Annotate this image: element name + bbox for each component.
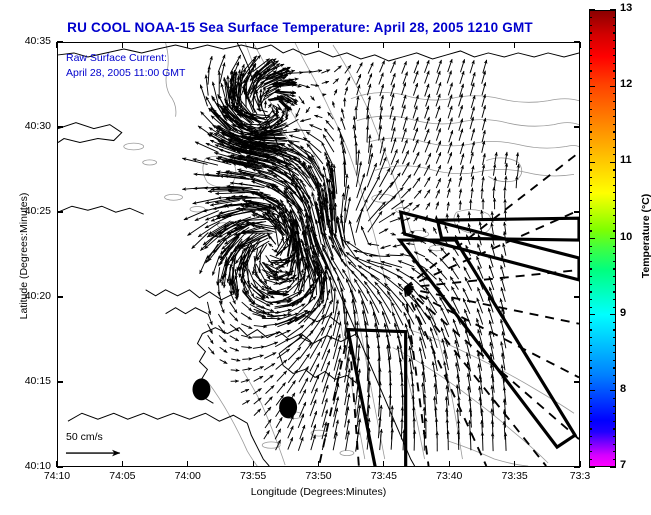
current-vector xyxy=(341,117,345,129)
map-graphics xyxy=(58,43,579,466)
current-vector xyxy=(425,84,429,97)
colorbar-minor-tick xyxy=(589,284,592,285)
x-tick xyxy=(579,42,580,48)
colorbar-minor-tick xyxy=(613,147,616,148)
colorbar-minor-tick xyxy=(589,444,592,445)
figure-canvas: RU COOL NOAA-15 Sea Surface Temperature:… xyxy=(0,0,651,515)
colorbar-minor-tick xyxy=(589,25,592,26)
current-vector xyxy=(367,126,368,142)
current-vector xyxy=(472,176,474,187)
current-vector xyxy=(241,335,252,338)
current-vector xyxy=(334,89,337,95)
current-vector xyxy=(322,385,328,404)
current-vector xyxy=(241,389,249,392)
colorbar-minor-tick xyxy=(589,48,592,49)
colorbar-minor-tick xyxy=(613,25,616,26)
current-vector xyxy=(300,425,305,439)
colorbar-tick xyxy=(589,238,595,239)
current-vector xyxy=(299,342,312,359)
current-vector xyxy=(402,139,407,153)
current-vector xyxy=(436,165,441,176)
colorbar-minor-tick xyxy=(589,352,592,353)
current-vector xyxy=(459,189,461,199)
current-vector xyxy=(264,363,275,370)
current-vector xyxy=(379,229,388,234)
current-vector xyxy=(437,82,441,95)
current-vector xyxy=(298,414,304,428)
current-vector xyxy=(436,71,440,84)
colorbar-minor-tick xyxy=(613,383,616,384)
x-tick xyxy=(122,42,123,48)
map-plot-area[interactable]: Raw Surface Current: April 28, 2005 11:0… xyxy=(57,42,580,467)
colorbar-minor-tick xyxy=(613,93,616,94)
current-vector xyxy=(471,72,475,85)
colorbar-minor-tick xyxy=(589,208,592,209)
current-vector xyxy=(338,127,344,142)
current-vector xyxy=(414,252,425,257)
current-vector xyxy=(401,188,411,198)
x-tick xyxy=(383,461,384,467)
current-vector xyxy=(266,385,275,393)
colorbar-minor-tick xyxy=(589,63,592,64)
current-vector xyxy=(268,104,271,108)
current-vector xyxy=(413,152,419,164)
current-vector xyxy=(406,243,414,244)
current-vector xyxy=(393,245,402,247)
colorbar-minor-tick xyxy=(589,200,592,201)
colorbar-minor-tick xyxy=(589,428,592,429)
current-vector xyxy=(413,83,417,96)
colorbar-tick xyxy=(610,238,616,239)
colorbar-tick xyxy=(589,390,595,391)
current-vector xyxy=(192,233,209,249)
current-vector xyxy=(440,258,449,268)
current-vector xyxy=(321,70,330,73)
colorbar-minor-tick xyxy=(613,253,616,254)
current-vector xyxy=(381,245,391,248)
y-tick xyxy=(57,466,63,467)
current-vector xyxy=(369,135,371,153)
current-vector xyxy=(482,105,485,118)
current-vector xyxy=(188,222,208,236)
colorbar-minor-tick xyxy=(613,215,616,216)
colorbar-minor-tick xyxy=(589,139,592,140)
current-vector xyxy=(241,380,250,383)
colorbar-minor-tick xyxy=(613,230,616,231)
colorbar-minor-tick xyxy=(613,413,616,414)
y-tick xyxy=(57,41,63,42)
colorbar-minor-tick xyxy=(613,70,616,71)
current-vector xyxy=(482,71,486,84)
colorbar-tick-label: 13 xyxy=(620,2,632,14)
current-vector xyxy=(368,73,372,84)
y-tick xyxy=(574,466,580,467)
colorbar-minor-tick xyxy=(589,131,592,132)
current-vector xyxy=(416,315,425,336)
current-vector xyxy=(460,153,463,164)
current-vector xyxy=(230,302,237,313)
current-vector xyxy=(276,107,277,118)
current-vector xyxy=(208,347,214,354)
colorbar-minor-tick xyxy=(613,329,616,330)
current-vector xyxy=(424,60,429,73)
current-vector xyxy=(403,116,407,129)
x-tick xyxy=(383,42,384,48)
colorbar-minor-tick xyxy=(613,375,616,376)
current-vector xyxy=(288,311,311,325)
y-tick xyxy=(574,41,580,42)
current-vector xyxy=(300,72,313,73)
colorbar-minor-tick xyxy=(613,200,616,201)
current-vector xyxy=(482,164,484,175)
colorbar-minor-tick xyxy=(589,307,592,308)
y-tick xyxy=(57,296,63,297)
current-vector xyxy=(368,96,370,108)
current-vector xyxy=(402,162,409,175)
scale-legend-label: 50 cm/s xyxy=(66,431,103,443)
colorbar-minor-tick xyxy=(613,246,616,247)
colorbar-minor-tick xyxy=(589,436,592,437)
current-vector xyxy=(218,55,225,73)
colorbar-minor-tick xyxy=(589,413,592,414)
colorbar-tick-label: 10 xyxy=(620,231,632,243)
current-vector xyxy=(270,279,289,280)
current-vector xyxy=(401,418,402,439)
current-vector xyxy=(391,73,395,85)
current-vector xyxy=(391,233,396,235)
colorbar-title: Temperature (°C) xyxy=(640,156,651,316)
current-vector xyxy=(230,312,238,321)
current-vector xyxy=(460,59,464,72)
colorbar-minor-tick xyxy=(589,17,592,18)
current-vector xyxy=(311,388,318,405)
colorbar-minor-tick xyxy=(589,55,592,56)
radar-station-marker xyxy=(279,396,297,418)
current-vector xyxy=(333,101,335,107)
colorbar-minor-tick xyxy=(589,177,592,178)
y-tick-label: 40:30 xyxy=(5,120,51,132)
current-vector xyxy=(379,157,386,176)
current-vector xyxy=(349,220,355,245)
current-vector xyxy=(346,419,349,439)
current-vector xyxy=(505,163,506,175)
colorbar-minor-tick xyxy=(589,406,592,407)
current-vector xyxy=(203,204,232,212)
current-vector xyxy=(390,394,391,416)
colorbar-tick xyxy=(589,86,595,87)
colorbar-tick-label: 9 xyxy=(620,307,626,319)
colorbar-tick xyxy=(610,162,616,163)
current-vector xyxy=(300,378,308,394)
colorbar-tick-label: 8 xyxy=(620,383,626,395)
current-vector xyxy=(200,85,207,107)
current-vector xyxy=(218,314,224,324)
current-vector xyxy=(436,190,440,199)
current-vector xyxy=(310,352,320,371)
current-vector xyxy=(448,95,452,108)
current-vector xyxy=(426,203,430,210)
current-vector xyxy=(264,407,271,415)
x-tick xyxy=(253,42,254,48)
colorbar-minor-tick xyxy=(589,291,592,292)
current-vector xyxy=(380,405,381,427)
current-vector xyxy=(299,304,321,324)
current-vector xyxy=(252,355,263,358)
current-vector xyxy=(402,150,408,164)
current-vector xyxy=(478,287,484,302)
current-vector xyxy=(334,66,341,72)
current-vector xyxy=(459,94,463,107)
current-vector xyxy=(357,85,360,96)
colorbar-minor-tick xyxy=(613,101,616,102)
current-vector xyxy=(445,225,448,233)
colorbar-minor-tick xyxy=(589,109,592,110)
colorbar-tick xyxy=(589,314,595,315)
colorbar-minor-tick xyxy=(589,169,592,170)
colorbar-minor-tick xyxy=(613,337,616,338)
current-vector xyxy=(368,62,373,73)
current-vector xyxy=(449,130,453,142)
current-vector xyxy=(398,334,403,359)
current-vector xyxy=(414,95,418,108)
y-tick-label: 40:35 xyxy=(5,35,51,47)
current-vector xyxy=(357,74,361,84)
current-vector xyxy=(425,394,426,415)
current-vector xyxy=(268,243,273,247)
current-vector xyxy=(357,63,363,74)
current-vector xyxy=(241,347,252,348)
colorbar-minor-tick xyxy=(589,367,592,368)
x-tick xyxy=(318,42,319,48)
colorbar-minor-tick xyxy=(613,276,616,277)
current-vector xyxy=(471,141,474,153)
x-tick-label: 73:3 xyxy=(555,470,605,482)
current-vector xyxy=(296,108,300,117)
current-vector xyxy=(402,174,411,186)
current-vector xyxy=(276,417,282,428)
current-vector xyxy=(299,330,314,347)
current-vector xyxy=(465,277,472,291)
current-vector xyxy=(342,108,345,118)
current-vector xyxy=(200,256,208,274)
current-vector xyxy=(254,409,261,416)
current-vector xyxy=(288,370,298,383)
colorbar-minor-tick xyxy=(613,185,616,186)
colorbar-minor-tick xyxy=(589,451,592,452)
colorbar-minor-tick xyxy=(589,230,592,231)
current-vector xyxy=(288,437,293,449)
colorbar-minor-tick xyxy=(589,345,592,346)
y-tick xyxy=(574,381,580,382)
colorbar-minor-tick xyxy=(613,78,616,79)
current-vector xyxy=(299,84,310,87)
current-vector xyxy=(230,291,236,304)
colorbar-minor-tick xyxy=(613,299,616,300)
colorbar-minor-tick xyxy=(613,307,616,308)
current-vector xyxy=(285,119,299,127)
current-vector xyxy=(208,324,213,334)
x-tick-label: 73:40 xyxy=(424,470,474,482)
colorbar-minor-tick xyxy=(613,284,616,285)
current-vector xyxy=(426,153,431,165)
current-vector xyxy=(447,189,450,198)
current-vector xyxy=(310,400,316,416)
current-vector xyxy=(265,397,273,405)
current-vector xyxy=(424,129,429,141)
y-axis-title: Latitude (Degrees:Minutes) xyxy=(18,146,30,366)
x-tick xyxy=(449,42,450,48)
current-vector xyxy=(230,347,239,350)
colorbar-tick xyxy=(610,86,616,87)
current-vector xyxy=(321,349,330,371)
current-vector xyxy=(288,426,293,438)
current-vector xyxy=(254,376,263,381)
colorbar-minor-tick xyxy=(613,208,616,209)
current-vector xyxy=(322,361,330,382)
current-vector xyxy=(299,389,306,404)
current-vector xyxy=(482,130,485,142)
colorbar-minor-tick xyxy=(589,383,592,384)
colorbar-minor-tick xyxy=(613,109,616,110)
y-tick xyxy=(57,126,63,127)
y-tick-label: 40:10 xyxy=(5,460,51,472)
colorbar-tick xyxy=(610,466,616,467)
colorbar-minor-tick xyxy=(613,63,616,64)
current-vector xyxy=(242,368,251,370)
colorbar-minor-tick xyxy=(589,215,592,216)
current-vector xyxy=(361,226,368,244)
current-vector xyxy=(380,95,383,107)
current-vector xyxy=(275,429,280,439)
current-vector xyxy=(494,177,495,189)
colorbar-minor-tick xyxy=(589,299,592,300)
colorbar-minor-tick xyxy=(613,192,616,193)
current-vector xyxy=(424,177,430,187)
current-vector xyxy=(402,128,406,142)
surface-current-vector-field xyxy=(182,55,518,452)
current-vector xyxy=(503,243,506,256)
current-vector xyxy=(460,84,464,97)
current-vector xyxy=(390,106,393,119)
colorbar-minor-tick xyxy=(613,436,616,437)
current-vector xyxy=(482,188,483,199)
page-title: RU COOL NOAA-15 Sea Surface Temperature:… xyxy=(0,20,600,35)
current-vector xyxy=(459,129,463,141)
colorbar-tick-label: 11 xyxy=(620,154,632,166)
colorbar-minor-tick xyxy=(589,337,592,338)
current-vector xyxy=(242,302,252,311)
current-vector xyxy=(390,61,395,73)
current-vector xyxy=(220,347,228,352)
x-tick xyxy=(187,42,188,48)
current-vector xyxy=(220,360,228,364)
current-vector xyxy=(299,96,304,104)
current-vector xyxy=(257,244,267,260)
current-vector xyxy=(423,228,426,233)
colorbar-minor-tick xyxy=(613,345,616,346)
colorbar-tick xyxy=(589,9,595,10)
colorbar-minor-tick xyxy=(589,329,592,330)
x-tick-label: 74:00 xyxy=(163,470,213,482)
colorbar-minor-tick xyxy=(589,192,592,193)
current-vector xyxy=(229,204,259,205)
current-vector xyxy=(391,149,397,164)
current-vector xyxy=(471,188,472,198)
current-vector xyxy=(413,139,418,152)
colorbar-minor-tick xyxy=(613,139,616,140)
current-vector xyxy=(448,59,452,72)
x-tick-label: 73:50 xyxy=(294,470,344,482)
colorbar-minor-tick xyxy=(589,78,592,79)
current-vector xyxy=(483,60,487,73)
y-tick xyxy=(57,381,63,382)
x-tick-label: 73:45 xyxy=(359,470,409,482)
current-vector xyxy=(311,96,315,100)
current-vector xyxy=(206,75,208,96)
current-vector xyxy=(437,268,447,279)
current-vector xyxy=(483,153,485,165)
current-vector xyxy=(333,79,339,84)
current-vector xyxy=(367,266,390,278)
current-vector xyxy=(298,437,303,451)
colorbar-minor-tick xyxy=(613,48,616,49)
y-tick-label: 40:15 xyxy=(5,375,51,387)
x-tick xyxy=(449,461,450,467)
current-vector xyxy=(413,204,420,210)
colorbar-minor-tick xyxy=(613,124,616,125)
colorbar-minor-tick xyxy=(613,154,616,155)
colorbar-minor-tick xyxy=(613,322,616,323)
colorbar-minor-tick xyxy=(589,154,592,155)
x-tick xyxy=(318,461,319,467)
current-vector xyxy=(505,432,506,450)
current-vector xyxy=(451,267,459,279)
current-vector xyxy=(326,120,334,129)
colorbar-minor-tick xyxy=(589,322,592,323)
colorbar-minor-tick xyxy=(589,268,592,269)
current-vector xyxy=(368,244,379,246)
x-tick xyxy=(514,461,515,467)
current-vector xyxy=(346,77,350,85)
colorbar-minor-tick xyxy=(589,116,592,117)
colorbar-minor-tick xyxy=(589,32,592,33)
current-vector xyxy=(425,106,429,119)
colorbar-minor-tick xyxy=(613,169,616,170)
current-vector xyxy=(471,166,473,177)
current-vector xyxy=(242,359,252,360)
current-vector xyxy=(403,72,407,84)
colorbar-minor-tick xyxy=(589,253,592,254)
colorbar-minor-tick xyxy=(613,116,616,117)
current-vector xyxy=(333,287,335,313)
colorbar-minor-tick xyxy=(613,352,616,353)
colorbar-minor-tick xyxy=(613,421,616,422)
colorbar-minor-tick xyxy=(613,428,616,429)
current-vector xyxy=(516,176,517,188)
current-vector xyxy=(300,119,311,122)
current-vector xyxy=(493,187,494,198)
current-vector xyxy=(264,430,270,439)
current-vector xyxy=(459,105,463,117)
current-vector xyxy=(403,430,404,451)
radar-station-marker xyxy=(192,378,210,400)
colorbar-minor-tick xyxy=(589,276,592,277)
current-vector xyxy=(241,313,252,320)
colorbar-minor-tick xyxy=(613,444,616,445)
x-tick-label: 74:05 xyxy=(97,470,147,482)
colorbar-minor-tick xyxy=(613,40,616,41)
colorbar-minor-tick xyxy=(613,360,616,361)
